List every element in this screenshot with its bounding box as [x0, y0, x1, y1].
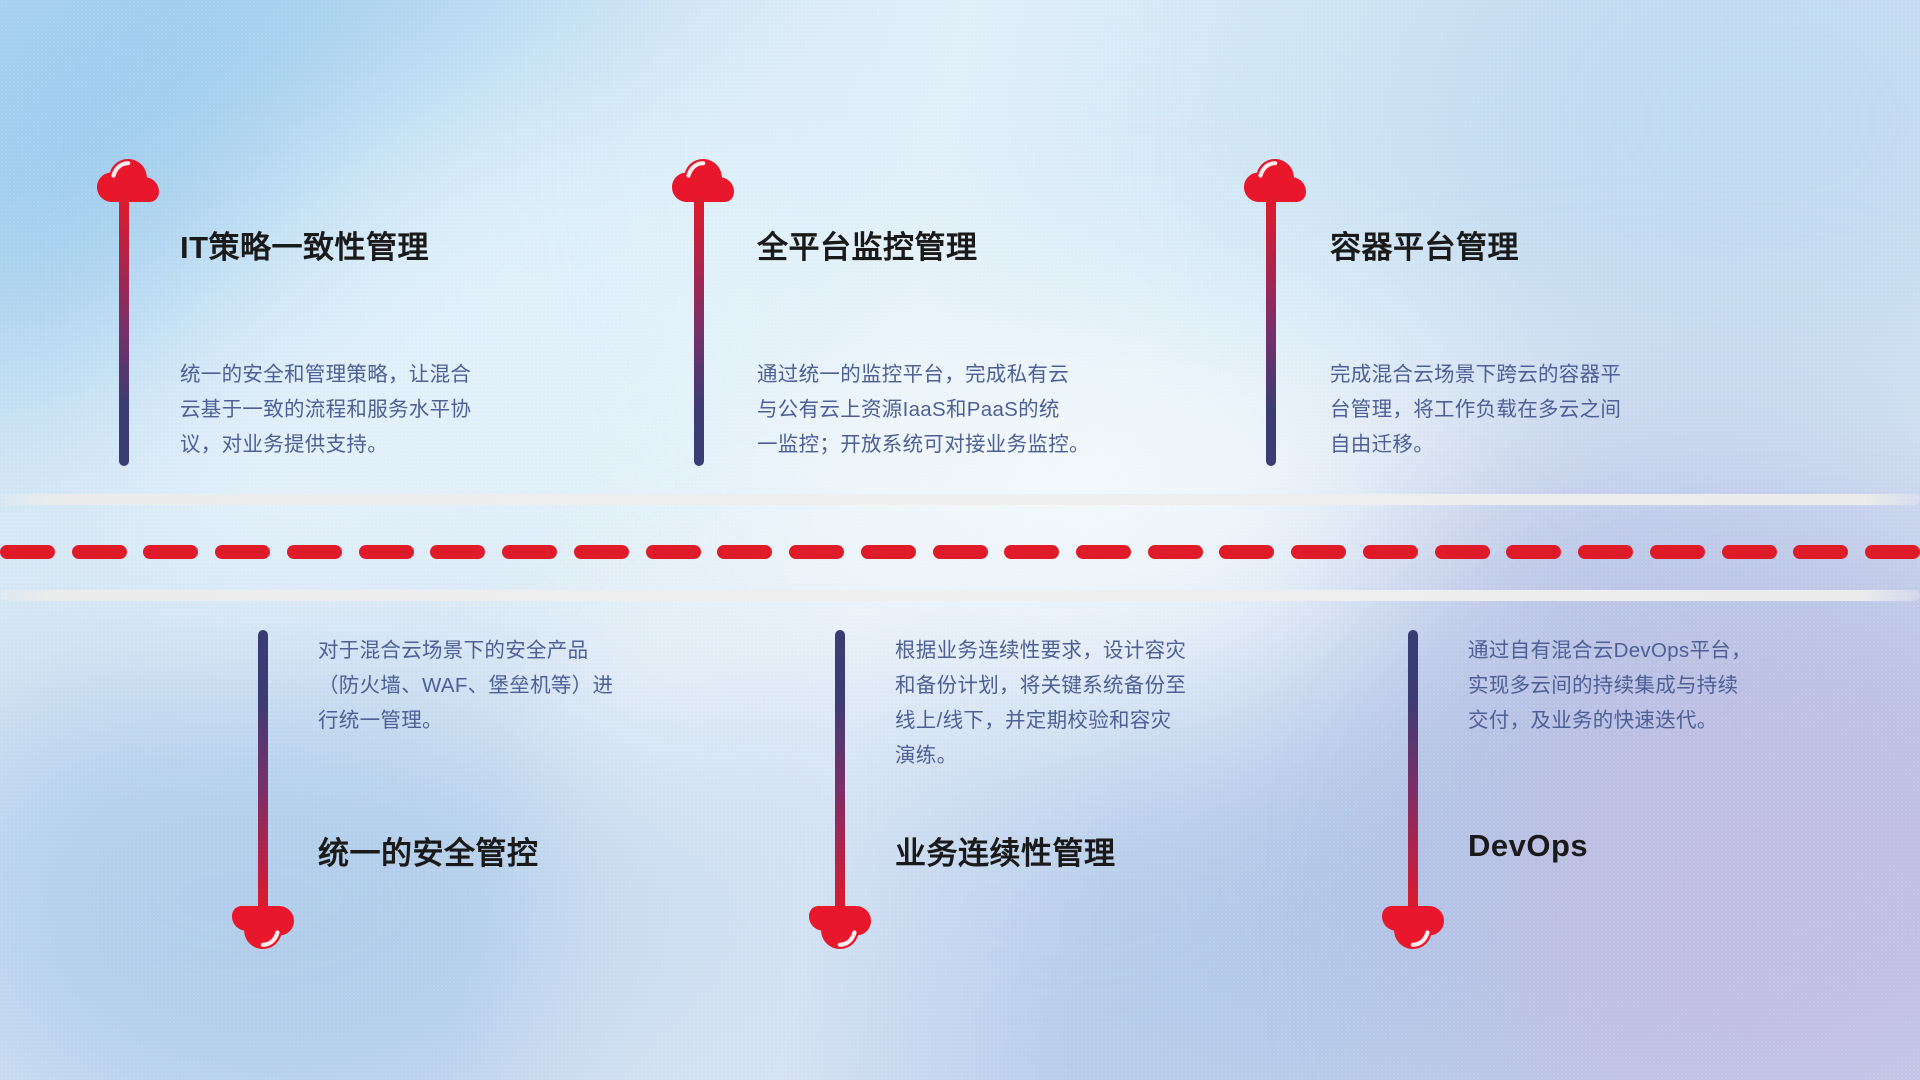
road-dash: [1291, 545, 1346, 559]
description-line: 演练。: [895, 738, 1186, 773]
connector-stem: [694, 196, 704, 466]
road-dash: [933, 545, 988, 559]
road-dash: [1650, 545, 1705, 559]
road-dash: [1435, 545, 1490, 559]
cloud-icon: [232, 905, 294, 949]
road-dash: [1004, 545, 1059, 559]
connector-stem: [835, 630, 845, 915]
road-dash: [430, 545, 485, 559]
road-dash: [0, 545, 55, 559]
road-dash: [287, 545, 342, 559]
item-title: IT策略一致性管理: [180, 222, 429, 267]
road-dash: [789, 545, 844, 559]
description-line: 与公有云上资源IaaS和PaaS的统: [757, 392, 1090, 427]
item-title: 容器平台管理: [1330, 222, 1519, 267]
description-line: 通过统一的监控平台，完成私有云: [757, 357, 1090, 392]
item-description: 通过统一的监控平台，完成私有云 与公有云上资源IaaS和PaaS的统 一监控；开…: [757, 357, 1090, 462]
item-description: 根据业务连续性要求，设计容灾 和备份计划，将关键系统备份至 线上/线下，并定期校…: [895, 633, 1186, 773]
road-dash: [1219, 545, 1274, 559]
cloud-icon: [97, 159, 159, 203]
description-line: 云基于一致的流程和服务水平协: [180, 392, 471, 427]
item-description: 通过自有混合云DevOps平台， 实现多云间的持续集成与持续 交付，及业务的快速…: [1468, 633, 1752, 738]
road-dash: [215, 545, 270, 559]
description-line: 自由迁移。: [1330, 427, 1621, 462]
description-line: 统一的安全和管理策略，让混合: [180, 357, 471, 392]
cloud-icon: [1382, 905, 1444, 949]
road-dash: [72, 545, 127, 559]
road-dash: [861, 545, 916, 559]
description-line: 对于混合云场景下的安全产品: [318, 633, 613, 668]
description-line: 完成混合云场景下跨云的容器平: [1330, 357, 1621, 392]
road-dash: [1363, 545, 1418, 559]
cloud-icon: [672, 159, 734, 203]
road-dash: [1793, 545, 1848, 559]
road-edge-bottom: [0, 590, 1920, 601]
item-description: 完成混合云场景下跨云的容器平 台管理，将工作负载在多云之间 自由迁移。: [1330, 357, 1621, 462]
description-line: 台管理，将工作负载在多云之间: [1330, 392, 1621, 427]
cloud-icon: [809, 905, 871, 949]
connector-stem: [1408, 630, 1418, 915]
connector-stem: [1266, 196, 1276, 466]
road-dash: [646, 545, 701, 559]
road-center-dashes: [0, 545, 1920, 559]
road-dash: [1076, 545, 1131, 559]
road-edge-top: [0, 494, 1920, 505]
road-dash: [574, 545, 629, 559]
description-line: 和备份计划，将关键系统备份至: [895, 668, 1186, 703]
road-dash: [359, 545, 414, 559]
description-line: （防火墙、WAF、堡垒机等）进: [318, 668, 613, 703]
description-line: 一监控；开放系统可对接业务监控。: [757, 427, 1090, 462]
description-line: 议，对业务提供支持。: [180, 427, 471, 462]
description-line: 通过自有混合云DevOps平台，: [1468, 633, 1752, 668]
connector-stem: [258, 630, 268, 915]
description-line: 行统一管理。: [318, 703, 613, 738]
item-description: 对于混合云场景下的安全产品 （防火墙、WAF、堡垒机等）进 行统一管理。: [318, 633, 613, 738]
description-line: 线上/线下，并定期校验和容灾: [895, 703, 1186, 738]
description-line: 根据业务连续性要求，设计容灾: [895, 633, 1186, 668]
connector-stem: [119, 196, 129, 466]
infographic-canvas: IT策略一致性管理 统一的安全和管理策略，让混合 云基于一致的流程和服务水平协 …: [0, 0, 1920, 1080]
description-line: 交付，及业务的快速迭代。: [1468, 703, 1752, 738]
road-dash: [1506, 545, 1561, 559]
item-title: 统一的安全管控: [318, 828, 539, 873]
item-title: DevOps: [1468, 828, 1588, 864]
item-title: 业务连续性管理: [895, 828, 1116, 873]
road-dash: [1148, 545, 1203, 559]
road-dash: [717, 545, 772, 559]
road-dash: [1578, 545, 1633, 559]
item-description: 统一的安全和管理策略，让混合 云基于一致的流程和服务水平协 议，对业务提供支持。: [180, 357, 471, 462]
description-line: 实现多云间的持续集成与持续: [1468, 668, 1752, 703]
road-dash: [1722, 545, 1777, 559]
road-dash: [143, 545, 198, 559]
road-dash: [502, 545, 557, 559]
road-dash: [1865, 545, 1920, 559]
item-title: 全平台监控管理: [757, 222, 978, 267]
cloud-icon: [1244, 159, 1306, 203]
